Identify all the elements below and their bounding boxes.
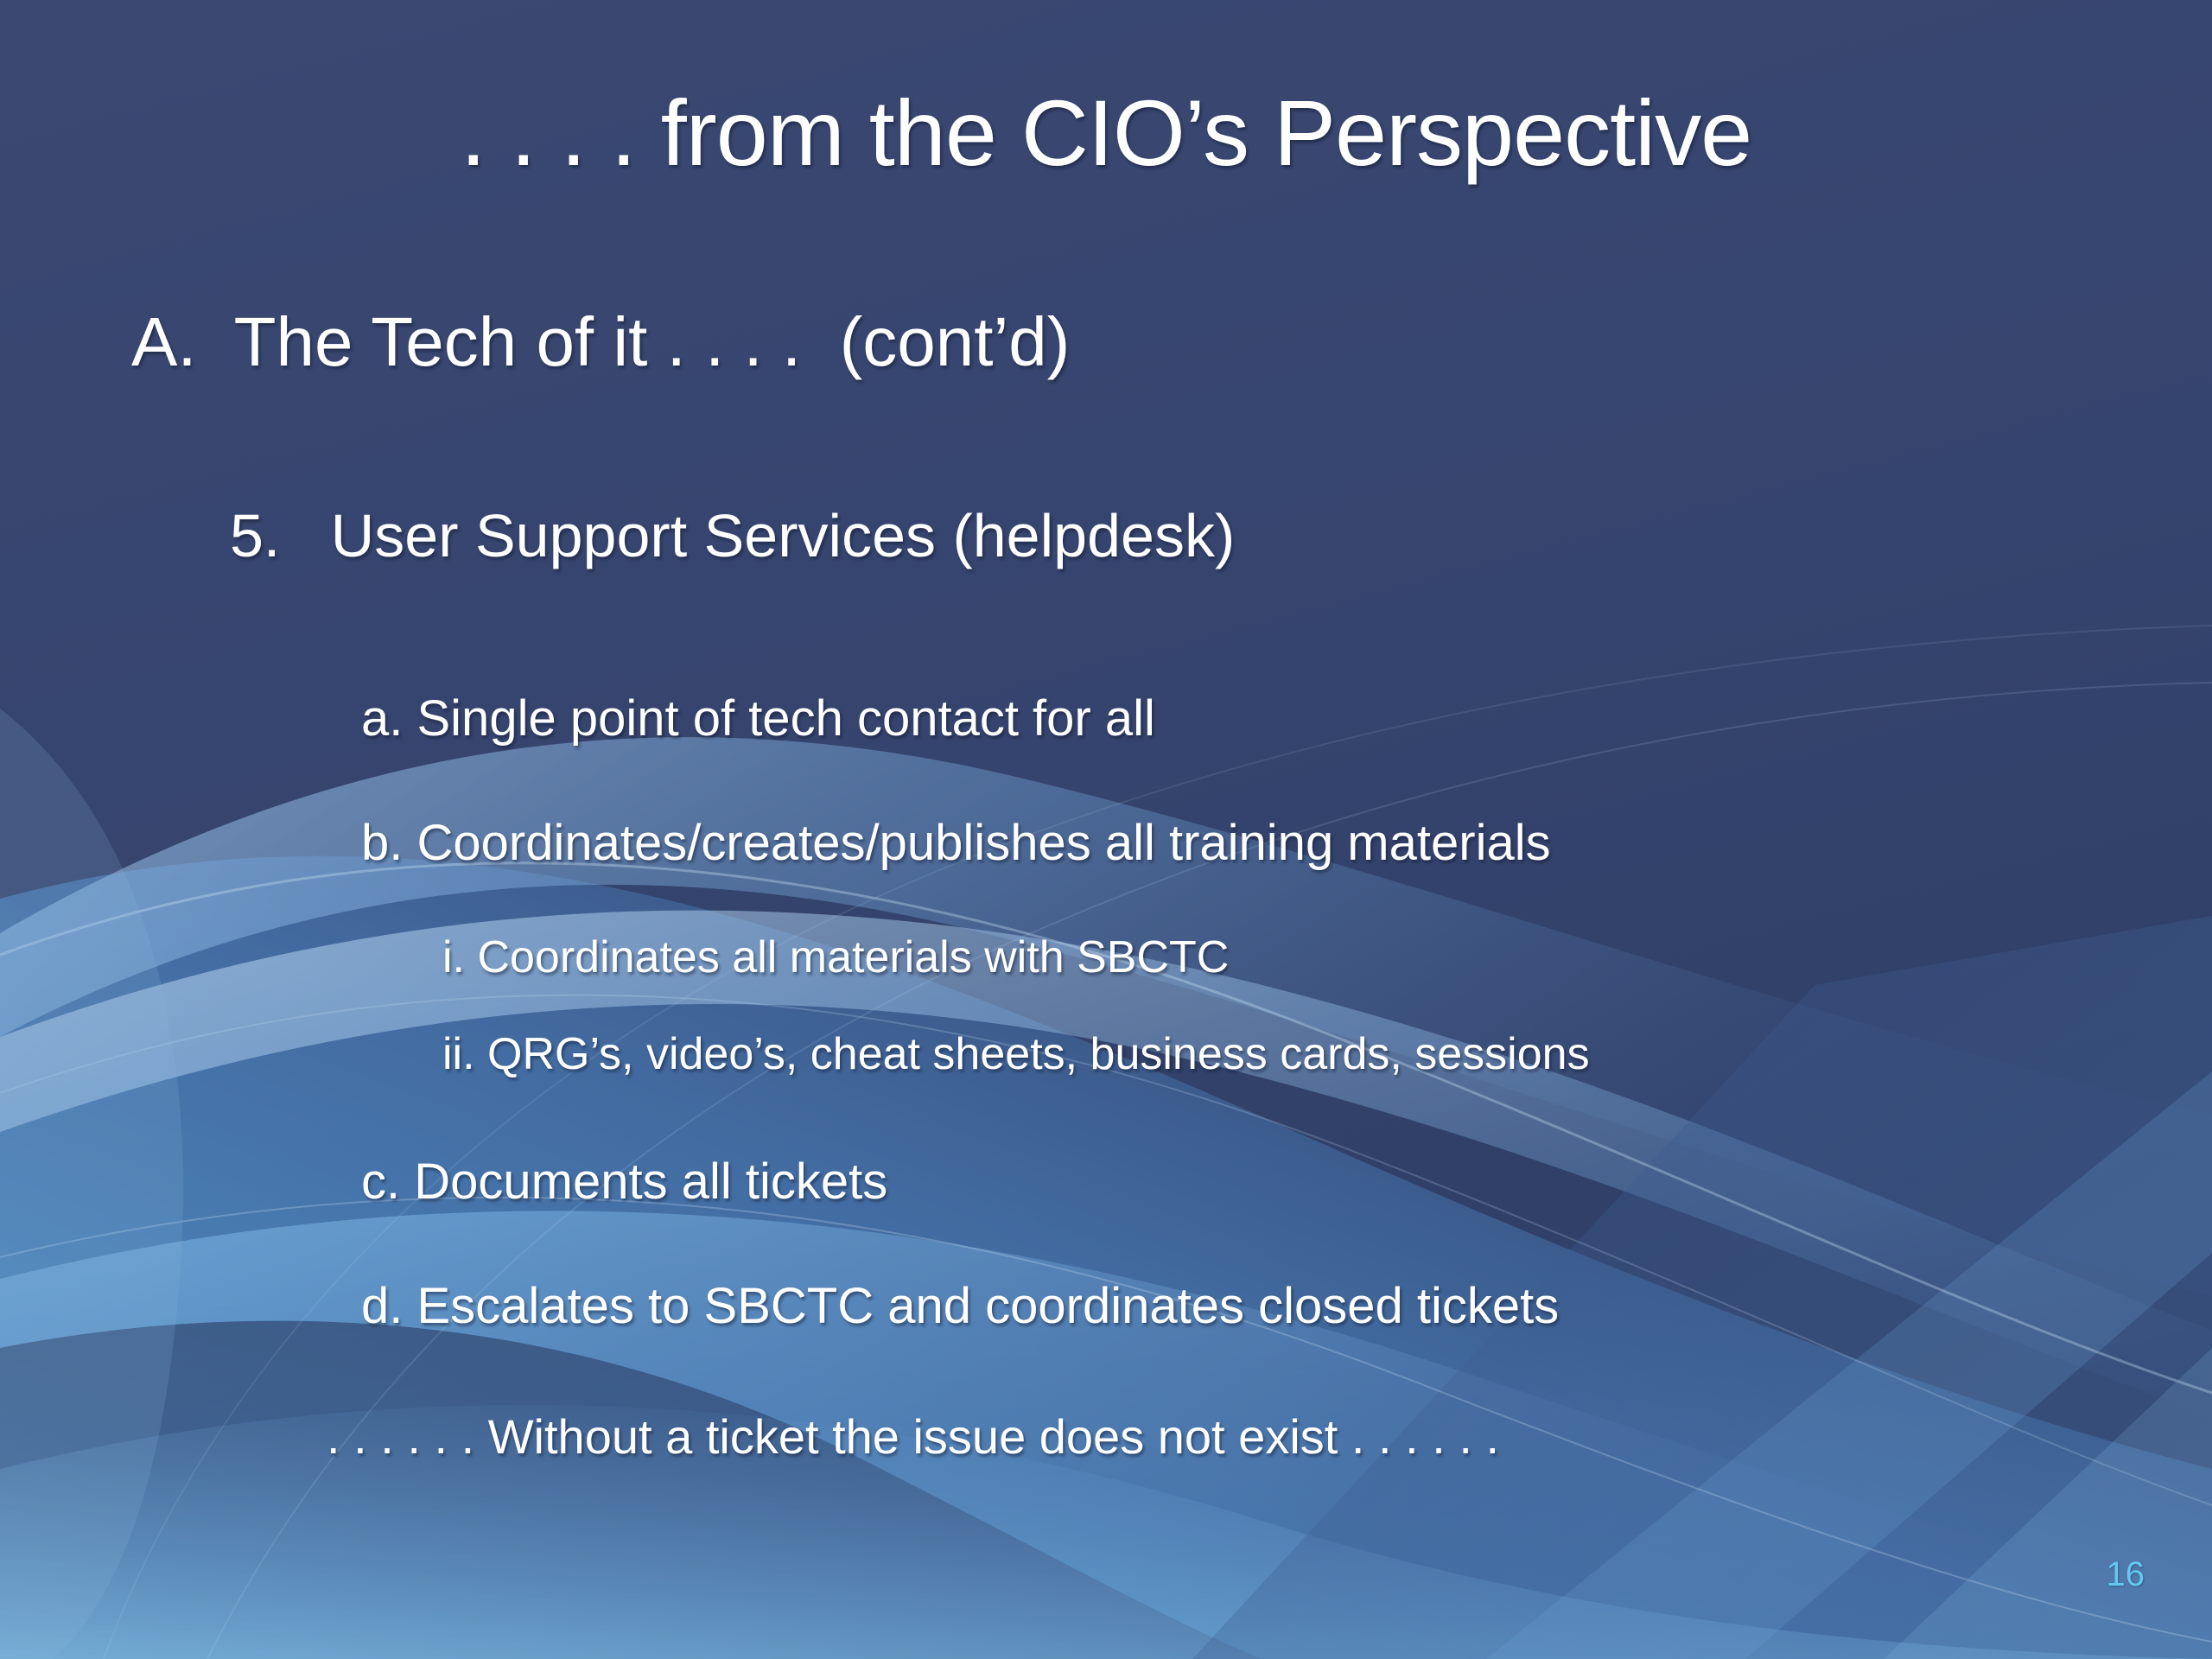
outline-level1-item: A. The Tech of it . . . . (cont’d) xyxy=(131,304,1070,380)
outline-item-d: d. Escalates to SBCTC and coordinates cl… xyxy=(361,1279,1559,1334)
outline-level2-item: 5. User Support Services (helpdesk) xyxy=(230,503,1235,569)
outline-item-c: c. Documents all tickets xyxy=(361,1154,887,1210)
closing-statement: . . . . . . Without a ticket the issue d… xyxy=(327,1410,1499,1464)
slide-number: 16 xyxy=(2107,1557,2145,1592)
page-title: . . . . from the CIO’s Perspective xyxy=(0,79,2212,187)
presentation-slide: . . . . from the CIO’s Perspective A. Th… xyxy=(0,0,2212,1659)
outline-item-a: a. Single point of tech contact for all xyxy=(361,691,1155,747)
outline-item-ii: ii. QRG’s, video’s, cheat sheets, busine… xyxy=(442,1030,1590,1079)
outline-item-i: i. Coordinates all materials with SBCTC xyxy=(442,933,1229,982)
outline-item-b: b. Coordinates/creates/publishes all tra… xyxy=(361,816,1551,871)
